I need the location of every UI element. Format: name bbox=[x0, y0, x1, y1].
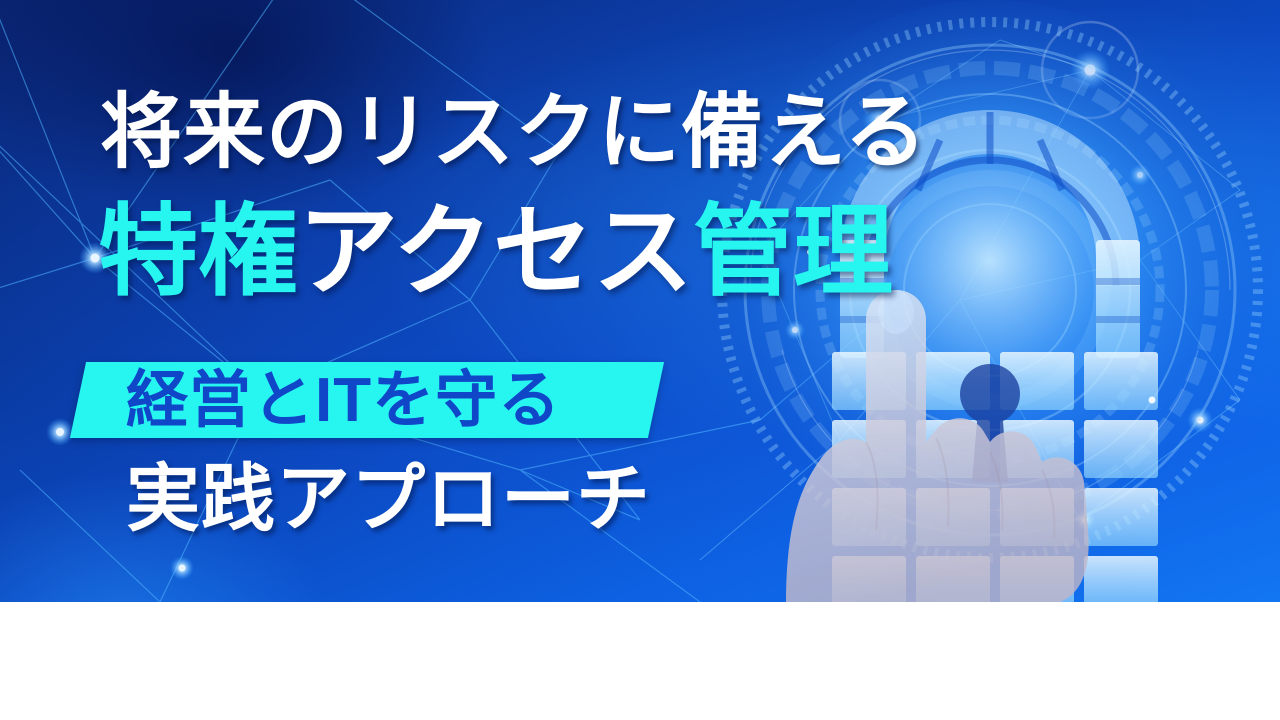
headline-line-2-part2: アクセス bbox=[298, 196, 693, 308]
headline-line-2: 特権アクセス管理 bbox=[98, 202, 893, 302]
webinar-banner: 将来のリスクに備える 特権アクセス管理 経営とITを守る 実践アプローチ WEB… bbox=[0, 0, 1280, 720]
headline-line-2-part1: 特権 bbox=[98, 196, 298, 308]
headline-line-1: 将来のリスクに備える bbox=[100, 92, 928, 174]
headline-group: 将来のリスクに備える 特権アクセス管理 経営とITを守る 実践アプローチ bbox=[0, 0, 760, 602]
headline-line-2-part3: 管理 bbox=[693, 196, 893, 308]
headline-line-4: 実践アプローチ bbox=[126, 462, 651, 536]
headline-band-text: 経営とITを守る bbox=[126, 368, 561, 434]
footer-bar: WEBINAR 2026 3/11 水 14:00 − 15:00 マジ セミ bbox=[0, 602, 1280, 720]
